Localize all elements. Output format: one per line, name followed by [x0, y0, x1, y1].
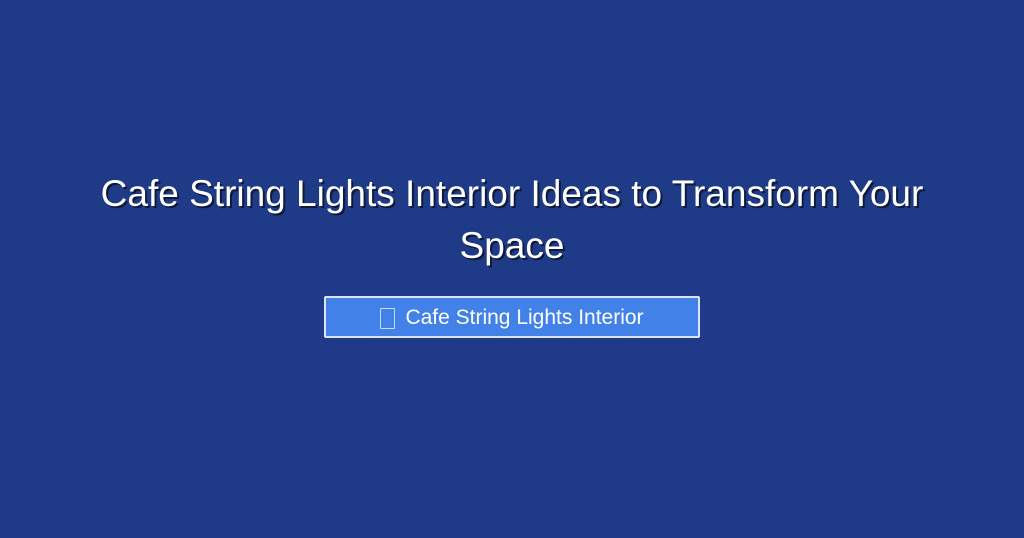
page-title: Cafe String Lights Interior Ideas to Tra… [52, 168, 972, 272]
hero-content: Cafe String Lights Interior Ideas to Tra… [52, 0, 972, 338]
cta-button[interactable]: Cafe String Lights Interior [324, 296, 700, 338]
hero-banner: Cafe String Lights Interior Ideas to Tra… [0, 0, 1024, 538]
missing-glyph-box-icon [380, 308, 395, 329]
cta-button-label: Cafe String Lights Interior [405, 307, 643, 328]
cta-container: Cafe String Lights Interior [52, 296, 972, 338]
